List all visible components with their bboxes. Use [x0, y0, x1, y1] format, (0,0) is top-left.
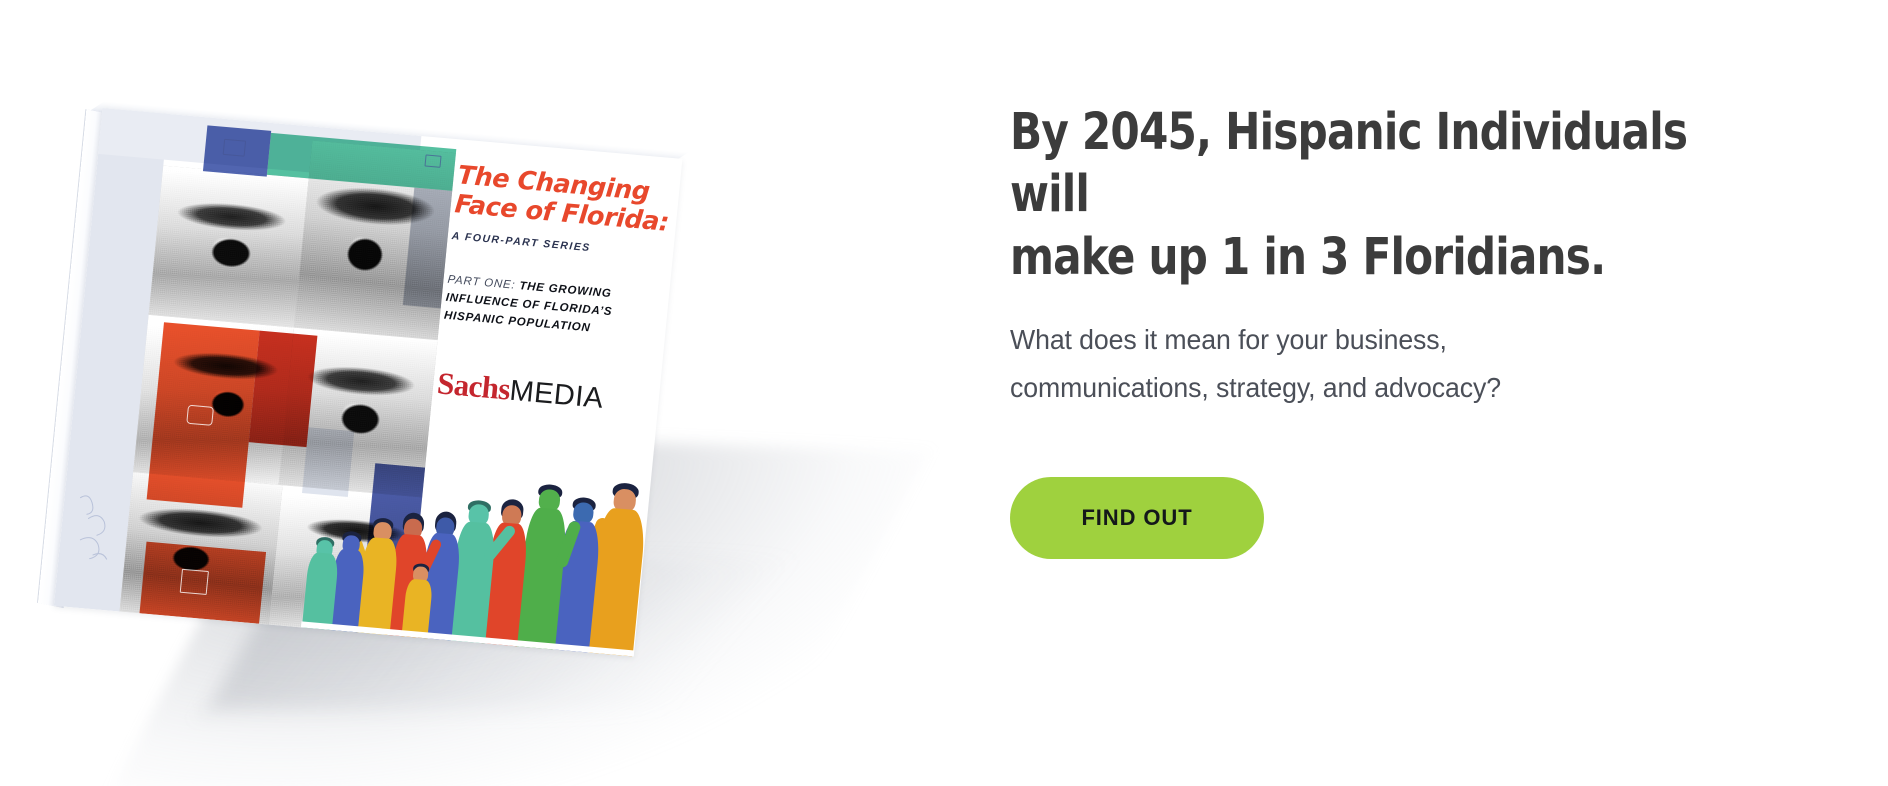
crowd-illustration	[301, 436, 655, 656]
cover-part-lead: PART ONE:	[447, 274, 516, 292]
logo-wordmark-primary: Sachs	[436, 365, 512, 406]
subcopy-line-1: What does it mean for your business,	[1010, 324, 1447, 355]
book-3d-wrapper: The Changing Face of Florida: A FOUR-PAR…	[54, 108, 683, 656]
cover-part-block: PART ONE: THE GROWING INFLUENCE OF FLORI…	[443, 272, 638, 342]
headline-line-1: By 2045, Hispanic Individuals will	[1010, 103, 1687, 224]
find-out-button[interactable]: FIND OUT	[1010, 477, 1264, 559]
sachs-media-logo: SachsMEDIA	[436, 365, 661, 420]
subcopy: What does it mean for your business, com…	[1010, 316, 1689, 414]
eye-photo-tile	[149, 166, 309, 328]
book-glyph-icon	[223, 139, 246, 157]
grid-glyph-icon	[180, 569, 209, 595]
copy-panel: By 2045, Hispanic Individuals will make …	[1010, 0, 1888, 786]
book-cover-visual: The Changing Face of Florida: A FOUR-PAR…	[0, 0, 1010, 786]
promo-banner: The Changing Face of Florida: A FOUR-PAR…	[0, 0, 1888, 786]
cover-title: The Changing Face of Florida:	[453, 161, 680, 238]
book-front-cover: The Changing Face of Florida: A FOUR-PAR…	[54, 108, 683, 656]
book-glyph-icon	[424, 154, 441, 167]
find-out-button-label: FIND OUT	[1081, 505, 1192, 531]
logo-wordmark-secondary: MEDIA	[508, 374, 605, 414]
pencil-scribble-decoration	[68, 487, 146, 573]
headline: By 2045, Hispanic Individuals will make …	[1010, 102, 1774, 289]
color-block-orange-2	[249, 331, 318, 448]
headline-line-2: make up 1 in 3 Floridians.	[1010, 228, 1605, 287]
subcopy-line-2: communications, strategy, and advocacy?	[1010, 372, 1501, 403]
oval-glyph-icon	[186, 405, 214, 426]
cover-part-line-1: THE GROWING	[519, 280, 612, 300]
